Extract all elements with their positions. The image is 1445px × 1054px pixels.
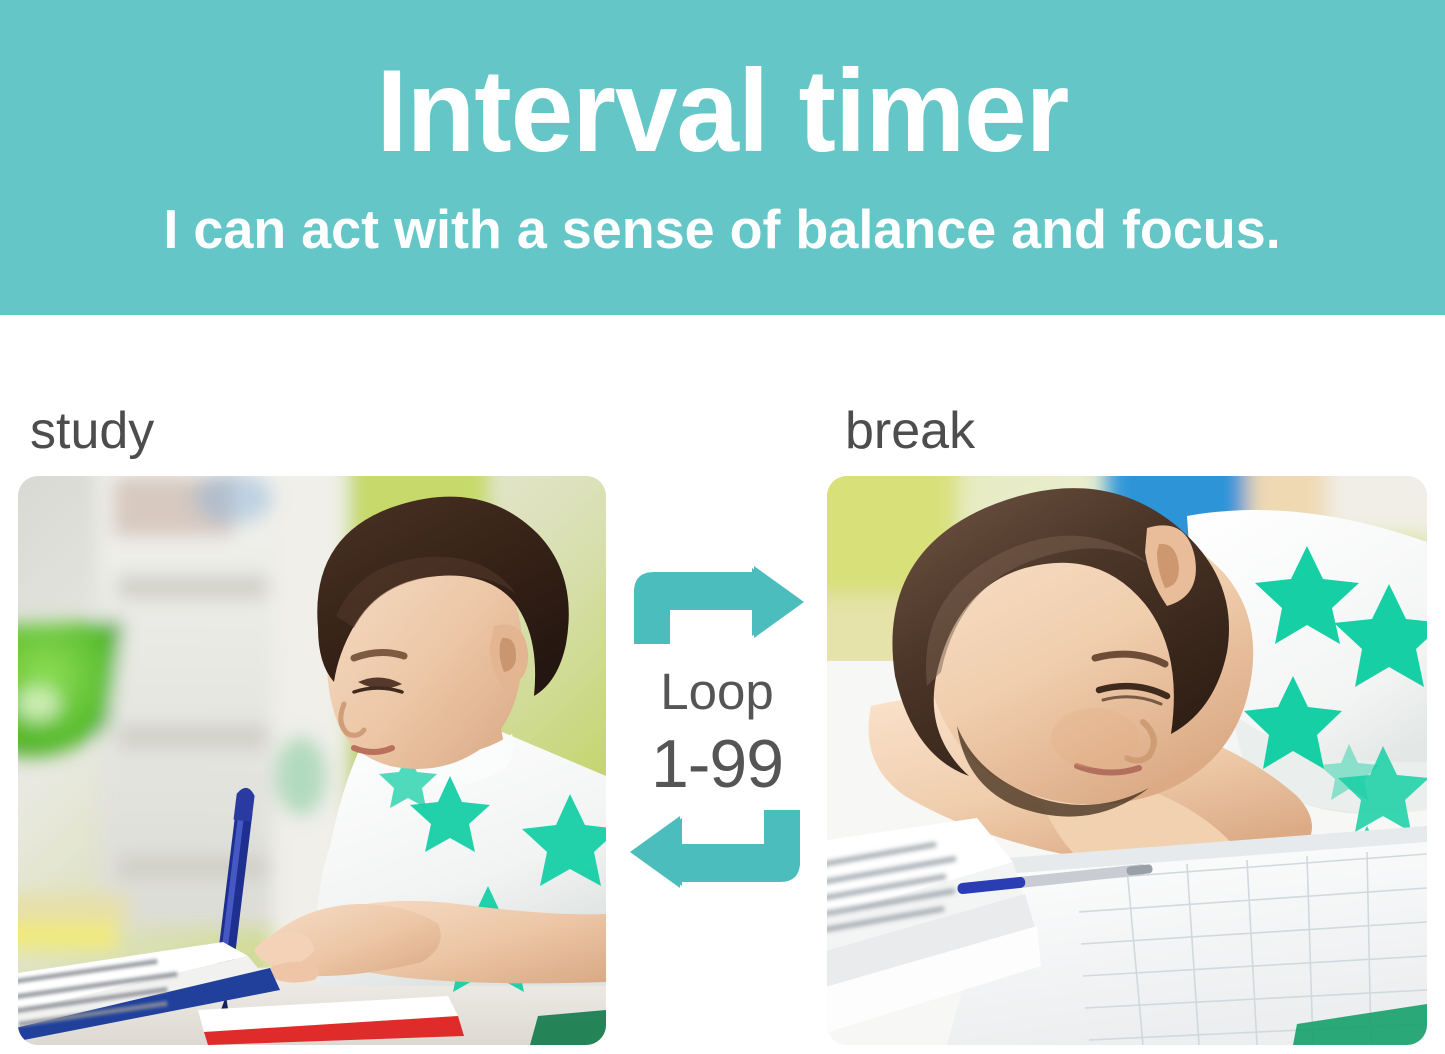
page-subtitle: I can act with a sense of balance and fo… <box>164 202 1281 257</box>
photo-card-study[interactable] <box>18 476 606 1045</box>
loop-range-value: 1-99 <box>651 730 783 798</box>
break-photo-illustration <box>827 476 1427 1045</box>
page-header: Interval timer I can act with a sense of… <box>0 0 1445 315</box>
photo-card-break[interactable] <box>827 476 1427 1045</box>
loop-indicator: Loop 1-99 <box>617 560 817 920</box>
main-content: study break <box>0 315 1445 1054</box>
study-photo-illustration <box>18 476 606 1045</box>
arrow-right-loop-icon <box>626 566 808 644</box>
loop-label: Loop <box>660 666 773 717</box>
panel-label-break: break <box>845 405 975 457</box>
arrow-left-loop-icon <box>626 810 808 888</box>
page-title: Interval timer <box>377 52 1069 169</box>
panel-label-study: study <box>30 405 154 457</box>
